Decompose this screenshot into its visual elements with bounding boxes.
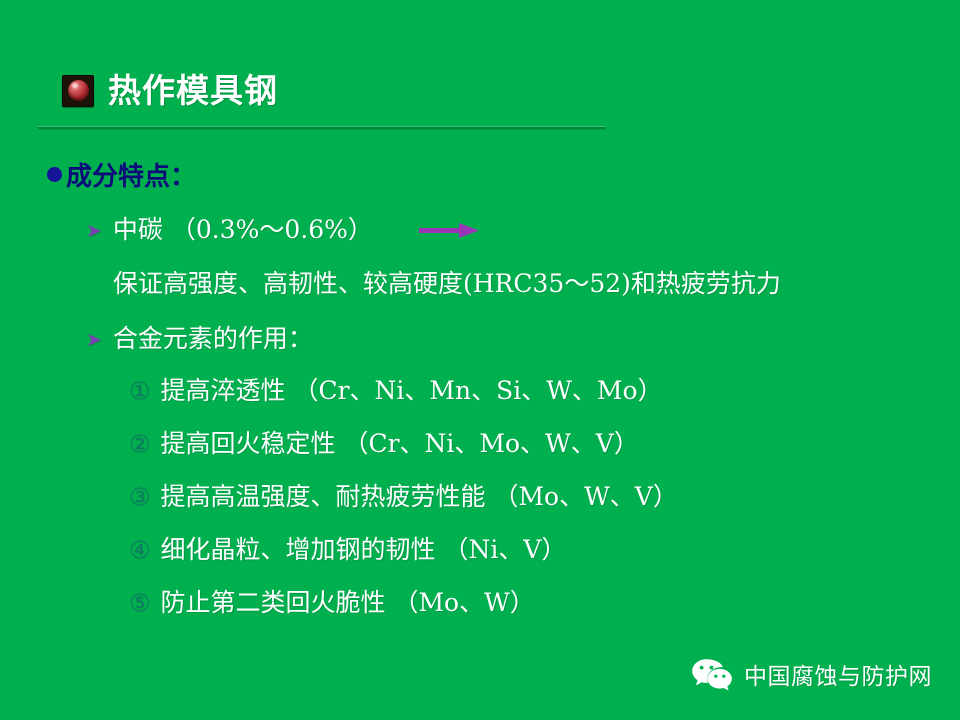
slide-title-row: 热作模具钢 bbox=[62, 74, 278, 107]
list-item-label: 提高淬透性 （Cr、Ni、Mn、Si、W、Mo） bbox=[161, 378, 663, 403]
section-heading-label: 成分特点： bbox=[66, 156, 196, 193]
bullet-label: 合金元素的作用： bbox=[113, 319, 313, 355]
list-item: ⑤ 防止第二类回火脆性 （Mo、W） bbox=[129, 590, 678, 643]
purple-arrowhead-icon: ➤ bbox=[86, 331, 102, 350]
list-item-label: 细化晶粒、增加钢的韧性 （Ni、V） bbox=[161, 537, 567, 562]
slide-canvas: 热作模具钢 成分特点： ➤ 中碳 （0.3%～0.6%） 保证高强度、高韧性、较… bbox=[0, 0, 960, 720]
page-title: 热作模具钢 bbox=[108, 74, 278, 107]
list-item-number: ③ bbox=[129, 485, 151, 509]
list-item-label: 提高高温强度、耐热疲劳性能 （Mo、W、V） bbox=[161, 484, 678, 509]
list-item-number: ⑤ bbox=[129, 591, 151, 615]
bullet-item-alloy-elements: ➤ 合金元素的作用： bbox=[86, 319, 313, 355]
list-item-number: ① bbox=[129, 379, 151, 403]
section-heading: 成分特点： bbox=[47, 156, 196, 193]
list-item: ④ 细化晶粒、增加钢的韧性 （Ni、V） bbox=[129, 537, 678, 590]
list-item-number: ② bbox=[129, 432, 151, 456]
footer-label: 中国腐蚀与防护网 bbox=[744, 657, 932, 691]
list-item: ③ 提高高温强度、耐热疲劳性能 （Mo、W、V） bbox=[129, 484, 678, 537]
list-item-label: 提高回火稳定性 （Cr、Ni、Mo、W、V） bbox=[161, 431, 639, 456]
list-item: ② 提高回火稳定性 （Cr、Ni、Mo、W、V） bbox=[129, 431, 678, 484]
numbered-list: ① 提高淬透性 （Cr、Ni、Mn、Si、W、Mo） ② 提高回火稳定性 （Cr… bbox=[129, 378, 678, 643]
wechat-logo-icon bbox=[691, 657, 733, 691]
list-item: ① 提高淬透性 （Cr、Ni、Mn、Si、W、Mo） bbox=[129, 378, 678, 431]
bullet-item-mid-carbon: ➤ 中碳 （0.3%～0.6%） bbox=[86, 210, 373, 246]
red-sphere-icon bbox=[62, 75, 94, 107]
purple-arrowhead-icon: ➤ bbox=[86, 222, 102, 241]
footer-watermark: 中国腐蚀与防护网 bbox=[691, 657, 932, 691]
purple-right-arrow-icon bbox=[419, 222, 479, 240]
list-item-label: 防止第二类回火脆性 （Mo、W） bbox=[161, 590, 535, 615]
blue-disc-bullet-icon bbox=[47, 167, 62, 182]
title-divider bbox=[38, 126, 606, 130]
continuation-text: 保证高强度、高韧性、较高硬度(HRC35～52)和热疲劳抗力 bbox=[113, 264, 781, 300]
bullet-label: 中碳 （0.3%～0.6%） bbox=[113, 210, 373, 246]
list-item-number: ④ bbox=[129, 538, 151, 562]
